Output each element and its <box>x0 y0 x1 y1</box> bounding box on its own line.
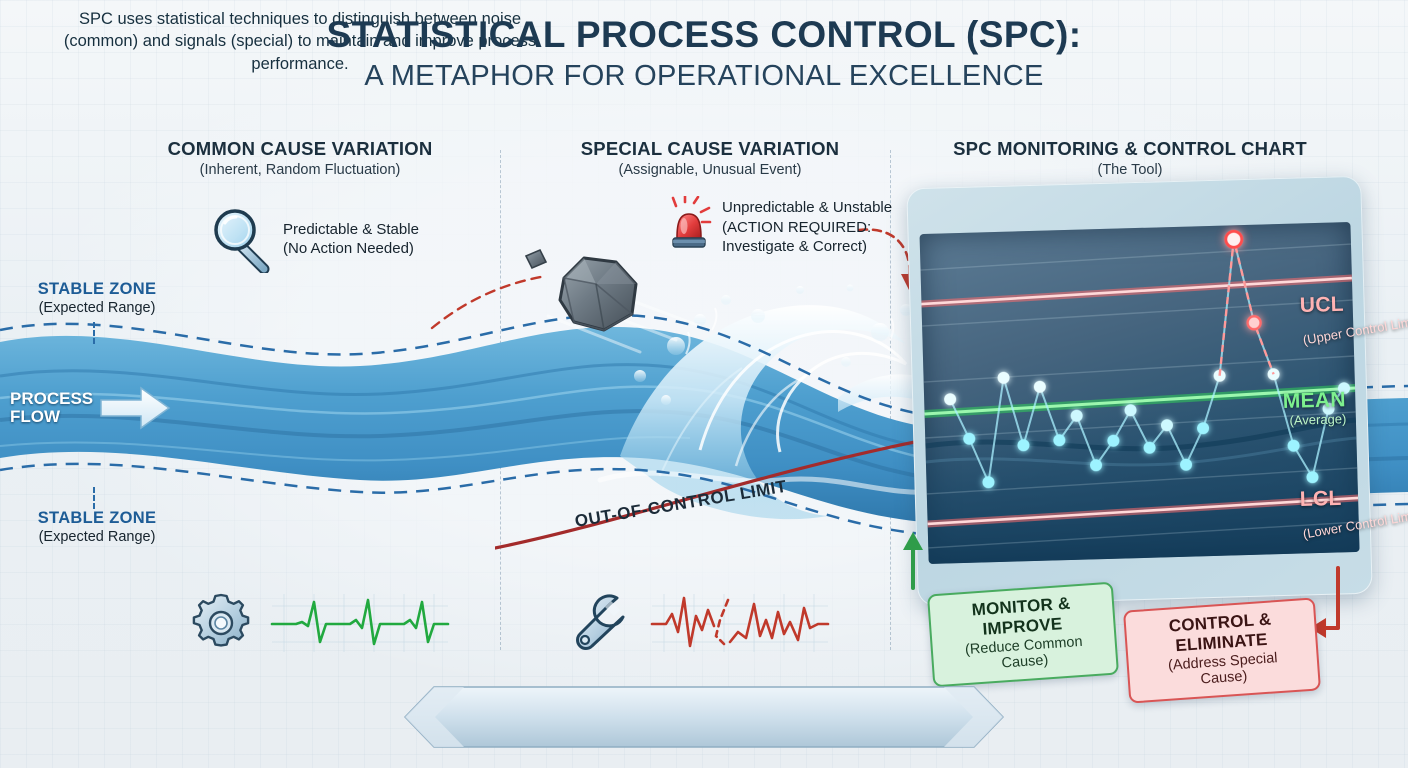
process-flow-line1: PROCESS <box>10 389 93 408</box>
common-cause-note-text: Predictable & Stable (No Action Needed) <box>283 220 419 258</box>
common-cause-note: Predictable & Stable (No Action Needed) <box>212 205 419 273</box>
page-title: STATISTICAL PROCESS CONTROL (SPC): A MET… <box>0 14 1408 94</box>
control-eliminate-box[interactable]: CONTROL & ELIMINATE (Address Special Cau… <box>1123 597 1321 703</box>
stable-zone-top-title: STABLE ZONE <box>2 280 192 299</box>
title-main: STATISTICAL PROCESS CONTROL (SPC): <box>0 14 1408 56</box>
lcl-label: LCL (Lower Control Limit) <box>1299 485 1408 525</box>
special-cause-note-line1: Unpredictable & Unstable <box>722 199 892 216</box>
ucl-line <box>921 278 1352 304</box>
stable-zone-bottom-title: STABLE ZONE <box>2 509 192 528</box>
mean-label: MEAN (Average) <box>1282 388 1346 428</box>
wrench-icon <box>570 592 632 654</box>
magnifier-icon <box>212 205 274 273</box>
stable-zone-top-tick <box>93 322 95 344</box>
mean-full: (Average) <box>1283 411 1346 428</box>
monitor-arrow-icon <box>895 528 935 590</box>
stable-zone-top-subtitle: (Expected Range) <box>2 300 192 316</box>
column-header-spc-chart: SPC MONITORING & CONTROL CHART (The Tool… <box>925 138 1335 178</box>
stable-zone-label-top: STABLE ZONE (Expected Range) <box>2 280 192 316</box>
column-header-spc-chart-title: SPC MONITORING & CONTROL CHART <box>925 138 1335 160</box>
stable-zone-bottom-subtitle: (Expected Range) <box>2 529 192 545</box>
special-cause-note: Unpredictable & Unstable (ACTION REQUIRE… <box>668 196 892 257</box>
column-header-special-cause: SPECIAL CAUSE VARIATION (Assignable, Unu… <box>510 138 910 178</box>
column-header-common-cause-title: COMMON CAUSE VARIATION <box>100 138 500 160</box>
special-cause-note-line2: (ACTION REQUIRED: <box>722 219 871 236</box>
gear-icon <box>190 592 252 654</box>
right-arrow-icon <box>99 385 171 431</box>
special-cause-note-line3: Investigate & Correct) <box>722 238 867 255</box>
variation-transition-dash <box>430 262 550 332</box>
common-cause-note-line1: Predictable & Stable <box>283 221 419 238</box>
monitor-improve-box[interactable]: MONITOR & IMPROVE (Reduce Common Cause) <box>927 582 1119 688</box>
process-flow-indicator: PROCESS FLOW <box>10 385 171 431</box>
ucl-label: UCL (Upper Control Limit) <box>1299 291 1408 331</box>
ekg-erratic-waveform-icon <box>650 592 830 654</box>
common-cause-signal-row <box>190 592 450 654</box>
column-header-common-cause: COMMON CAUSE VARIATION (Inherent, Random… <box>100 138 500 178</box>
title-subtitle: A METAPHOR FOR OPERATIONAL EXCELLENCE <box>0 58 1408 94</box>
column-header-special-cause-subtitle: (Assignable, Unusual Event) <box>510 162 910 178</box>
summary-banner <box>404 686 1004 748</box>
column-header-spc-chart-subtitle: (The Tool) <box>925 162 1335 178</box>
common-cause-note-line2: (No Action Needed) <box>283 240 414 257</box>
special-cause-signal-row <box>570 592 830 654</box>
lcl-abbr: LCL <box>1299 487 1341 511</box>
special-cause-note-text: Unpredictable & Unstable (ACTION REQUIRE… <box>722 196 892 257</box>
ucl-abbr: UCL <box>1299 293 1344 317</box>
column-header-special-cause-title: SPECIAL CAUSE VARIATION <box>510 138 910 160</box>
column-header-common-cause-subtitle: (Inherent, Random Fluctuation) <box>100 162 500 178</box>
ekg-stable-waveform-icon <box>270 592 450 654</box>
process-flow-line2: FLOW <box>10 407 60 426</box>
mean-abbr: MEAN <box>1282 388 1346 413</box>
infographic-canvas: STATISTICAL PROCESS CONTROL (SPC): A MET… <box>0 0 1408 768</box>
stable-zone-label-bottom: STABLE ZONE (Expected Range) <box>2 509 192 545</box>
process-flow-label: PROCESS FLOW <box>10 390 93 425</box>
stable-zone-bottom-tick <box>93 487 95 509</box>
siren-icon <box>668 196 714 256</box>
